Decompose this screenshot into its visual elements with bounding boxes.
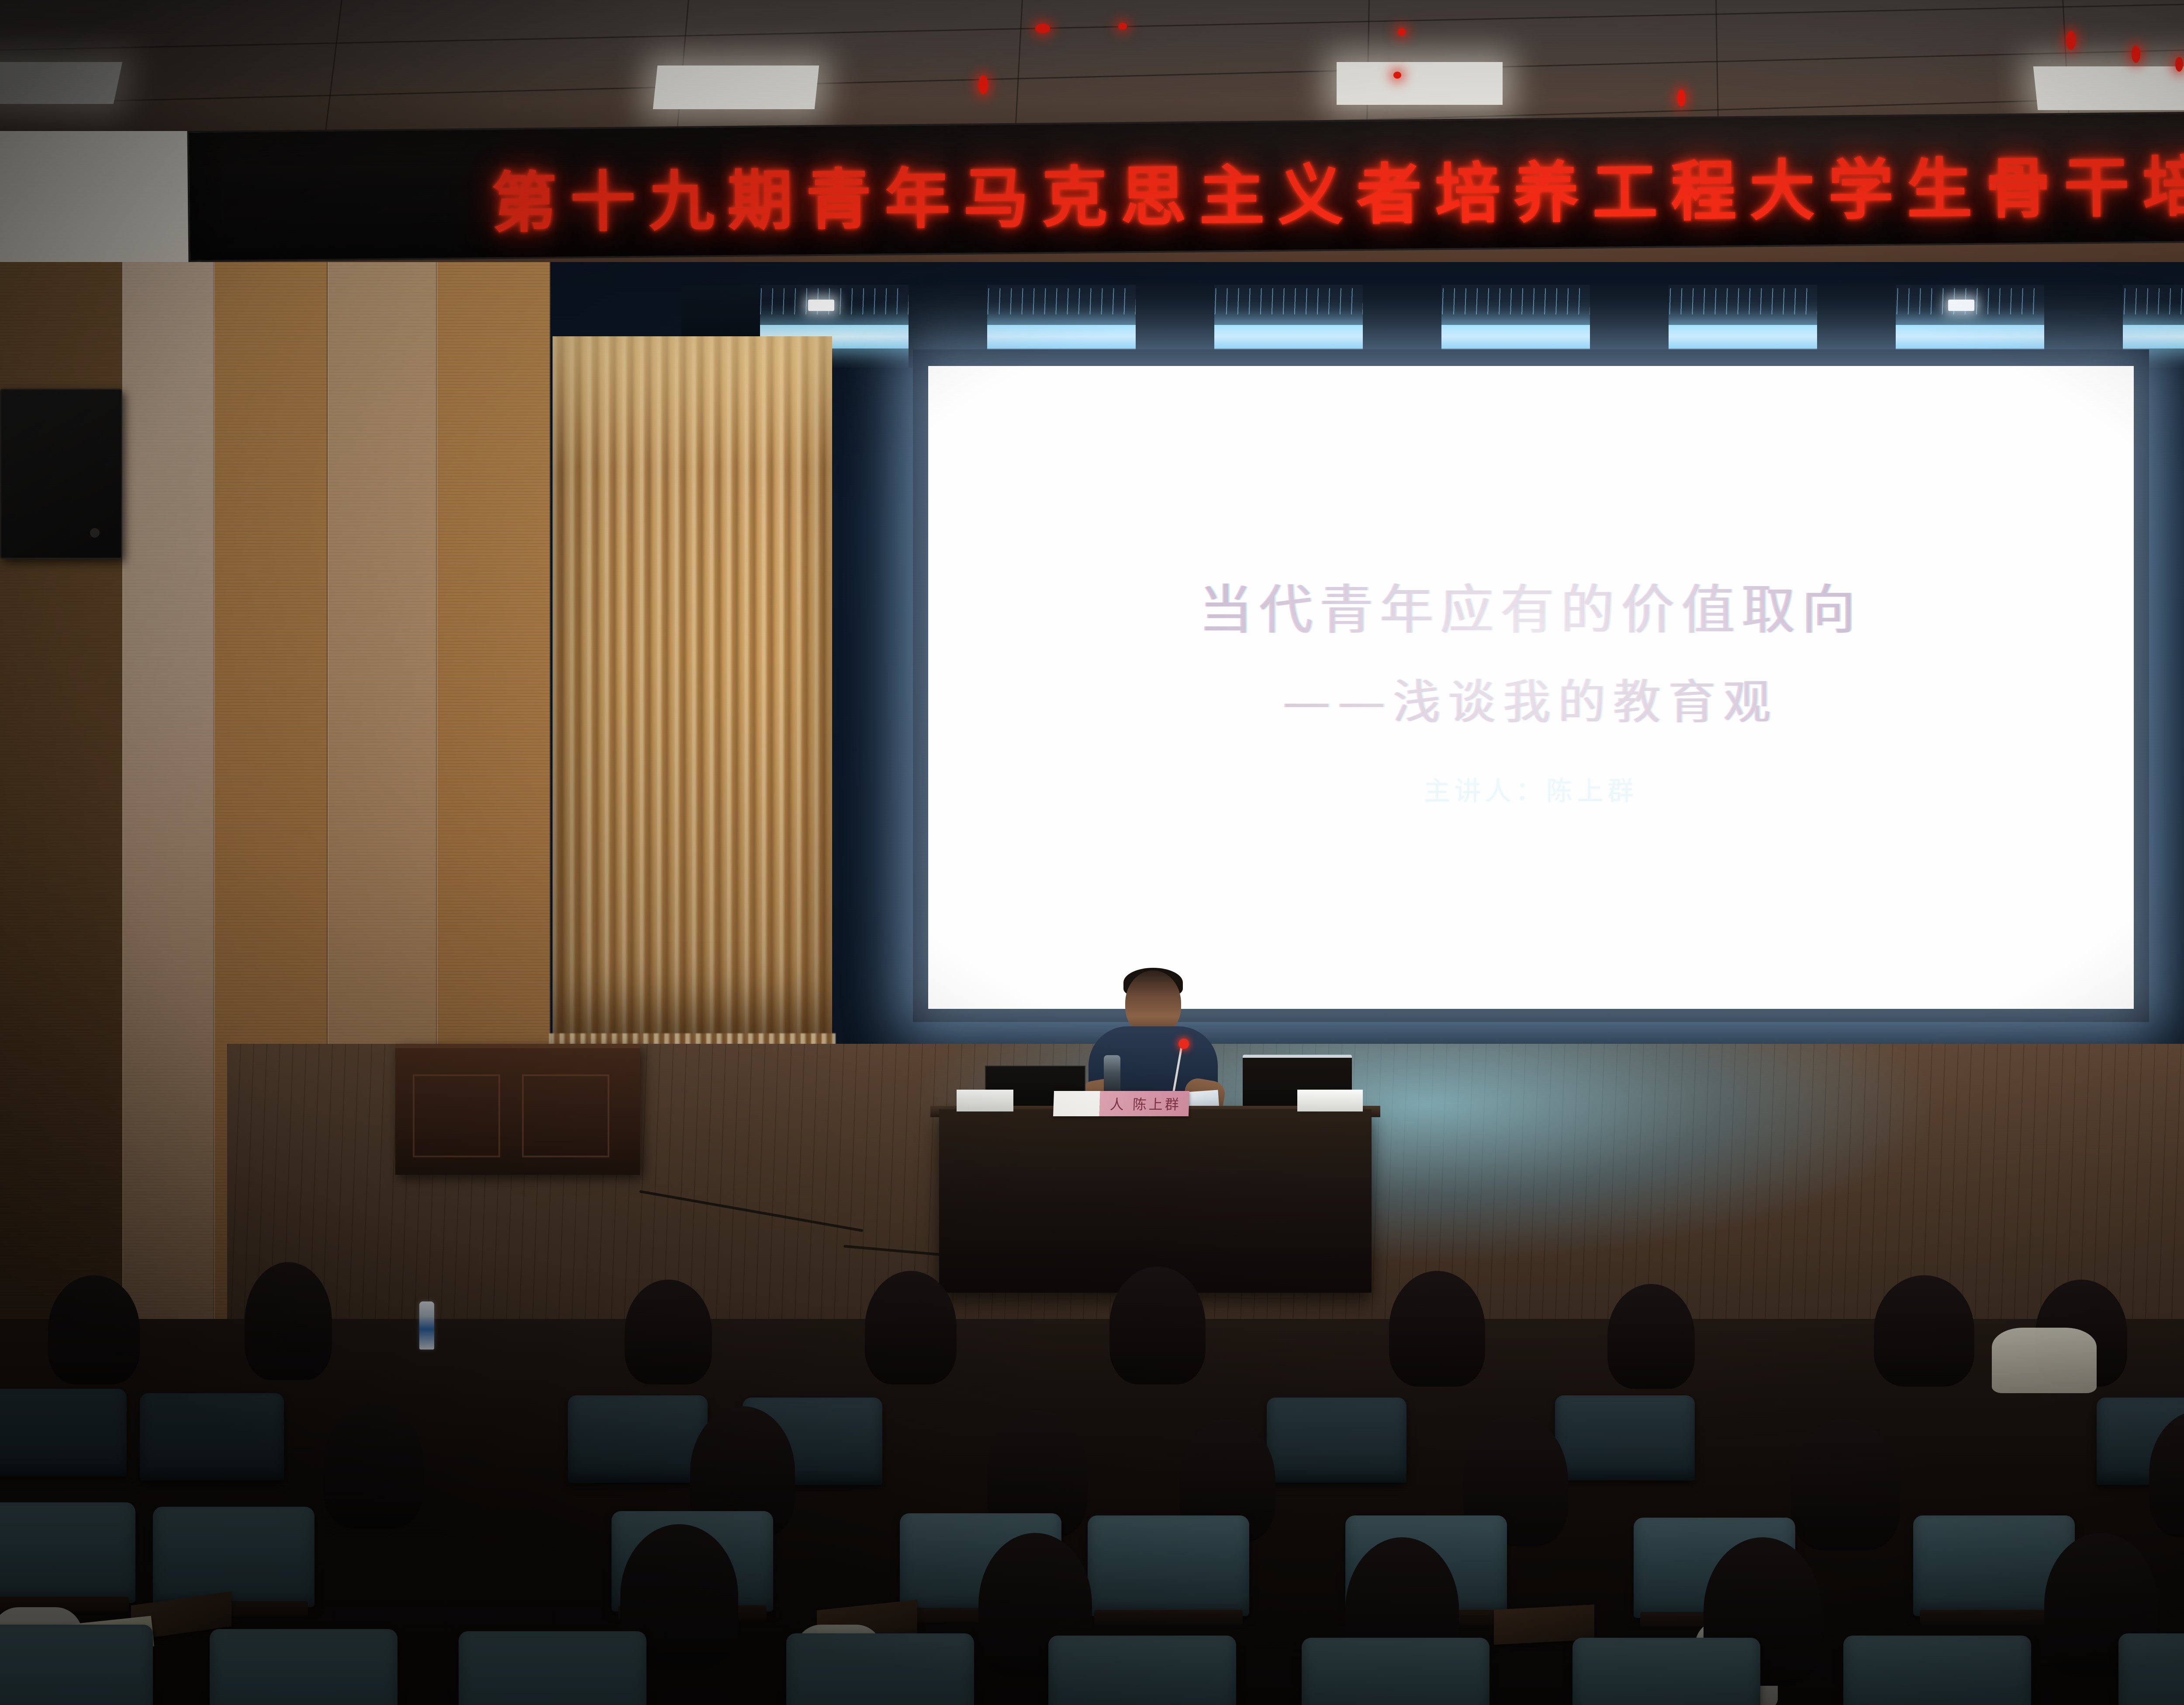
auditorium-seat[interactable]	[2118, 1633, 2184, 1705]
slide-title: 当代青年应有的价值取向	[1199, 567, 1863, 644]
audience-member	[1389, 1271, 1485, 1387]
auditorium-seat[interactable]	[0, 1389, 127, 1476]
white-placard-left	[957, 1090, 1013, 1111]
auditorium-seat[interactable]	[1302, 1638, 1489, 1705]
slide-subtitle: ——浅谈我的教育观	[1283, 664, 1779, 732]
loudspeaker-icon	[0, 389, 122, 559]
auditorium-seat[interactable]	[153, 1507, 314, 1607]
auditorium-seat[interactable]	[1267, 1398, 1406, 1483]
lecture-hall-scene: 第十九期青年马克思主义者培养工程大学生骨干培训班专题报告	[0, 0, 2184, 1705]
auditorium-seat[interactable]	[0, 1625, 153, 1705]
auditorium-seat[interactable]	[210, 1629, 397, 1705]
auditorium-seat[interactable]	[1555, 1395, 1695, 1481]
auditorium-seat[interactable]	[140, 1393, 284, 1481]
auditorium-seat[interactable]	[568, 1395, 708, 1483]
water-bottle-icon	[419, 1301, 434, 1350]
banner-title-text: 第十九期青年马克思主义者培养工程大学生骨干培训班专题报告	[478, 129, 2184, 245]
stage-spotlight-icon	[808, 300, 834, 311]
auditorium-seat[interactable]	[1088, 1515, 1249, 1616]
audience-member	[1874, 1275, 1974, 1387]
audience-member	[245, 1262, 332, 1380]
auditorium-house	[0, 1319, 2184, 1705]
auditorium-seat[interactable]	[0, 1502, 135, 1603]
white-placard-right	[1297, 1090, 1363, 1111]
audience-member-shirt	[1992, 1328, 2097, 1393]
auditorium-seat[interactable]	[786, 1633, 974, 1705]
presenter-name-card: 人 陈上群	[1053, 1091, 1189, 1116]
audience-member	[1607, 1284, 1695, 1389]
audience-member	[48, 1275, 140, 1384]
auditorium-seat[interactable]	[1048, 1636, 1236, 1705]
microphone-icon	[1178, 1039, 1189, 1049]
stage-spotlight-icon	[1948, 300, 1974, 311]
water-bottle-icon	[1104, 1055, 1120, 1095]
projection-screen[interactable]: 当代青年应有的价值取向 ——浅谈我的教育观 主讲人：陈上群	[928, 366, 2134, 1009]
audience-member	[1791, 1419, 1900, 1550]
slide-author: 主讲人：陈上群	[1424, 770, 1638, 808]
lecture-desk	[939, 1109, 1372, 1293]
side-cabinet	[395, 1044, 640, 1175]
presentation-slide: 当代青年应有的价值取向 ——浅谈我的教育观 主讲人：陈上群	[928, 366, 2134, 1009]
audience-member	[865, 1271, 957, 1384]
presenter-name-card-text: 人 陈上群	[1109, 1094, 1182, 1114]
led-banner: 第十九期青年马克思主义者培养工程大学生骨干培训班专题报告	[187, 104, 2184, 262]
auditorium-seat[interactable]	[1843, 1636, 2031, 1705]
stage-curtain-left	[553, 336, 832, 1044]
audience-member	[625, 1280, 712, 1384]
auditorium-seat[interactable]	[459, 1631, 646, 1705]
audience-member	[1109, 1267, 1206, 1384]
audience-member	[323, 1402, 424, 1529]
auditorium-seat[interactable]	[1572, 1638, 1760, 1705]
